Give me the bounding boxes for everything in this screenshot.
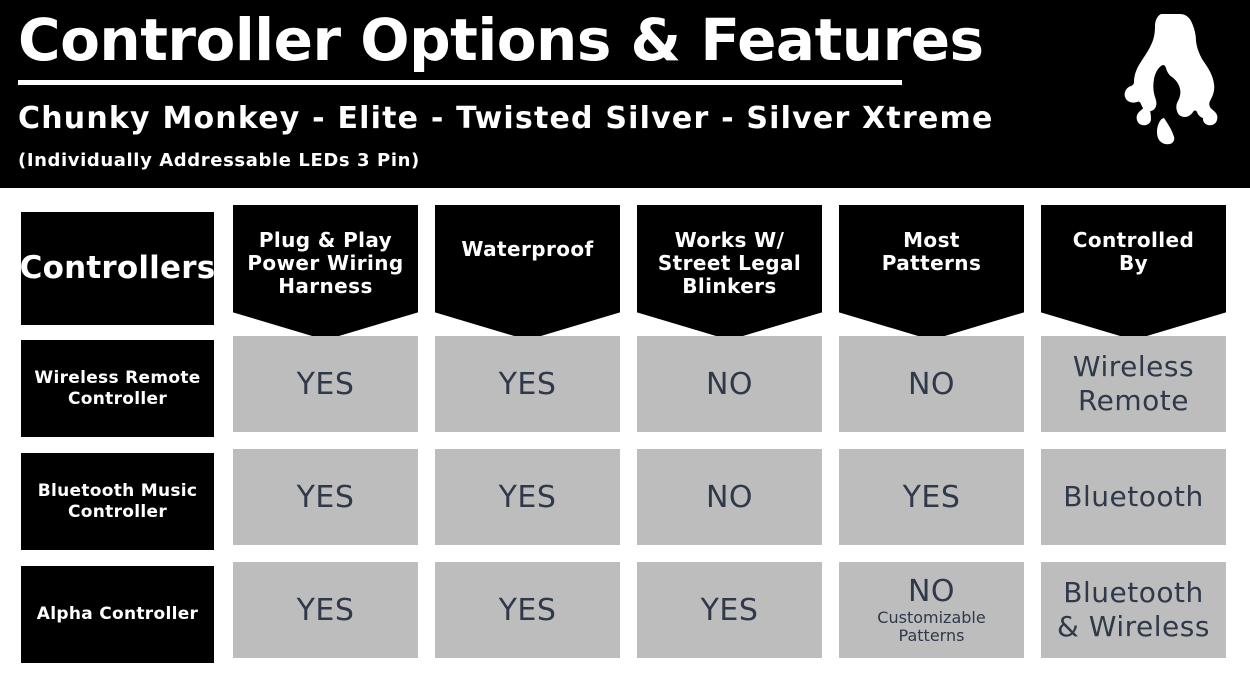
table-row: YES [233, 562, 418, 658]
row-label-bluetooth-music-controller: Bluetooth Music Controller [21, 453, 214, 550]
table-row: YES [839, 449, 1024, 545]
cell-value: YES [499, 481, 557, 514]
table-row: YES [233, 336, 418, 432]
column-header-label: Controlled By [1067, 219, 1200, 275]
table-row: NO [637, 336, 822, 432]
cell-value: NO [908, 575, 955, 608]
table-row: YES [233, 449, 418, 545]
table-row: YES [435, 449, 620, 545]
column-header-label: Most Patterns [876, 219, 988, 275]
table-row: YES [637, 562, 822, 658]
cell-value: YES [297, 594, 355, 627]
table-row: Wireless Remote [1041, 336, 1226, 432]
table-row: NO Customizable Patterns [839, 562, 1024, 658]
header-banner: Controller Options & Features Chunky Mon… [0, 0, 1250, 188]
table-row: NO [637, 449, 822, 545]
cell-value: YES [297, 481, 355, 514]
led-note: (Individually Addressable LEDs 3 Pin) [18, 147, 420, 175]
table-header-plug-and-play: Plug & Play Power Wiring Harness [233, 205, 418, 340]
cell-subtext: Customizable Patterns [877, 609, 985, 645]
page-title: Controller Options & Features [18, 5, 984, 75]
column-header-label: Plug & Play Power Wiring Harness [241, 219, 409, 297]
cell-value: YES [499, 594, 557, 627]
table-header-controllers: Controllers [21, 212, 214, 325]
cell-value: YES [297, 368, 355, 401]
column-header-label: Controllers [14, 251, 222, 286]
row-label-wireless-remote-controller: Wireless Remote Controller [21, 340, 214, 437]
cell-value: Bluetooth [1063, 480, 1203, 514]
table-header-street-legal-blinkers: Works W/ Street Legal Blinkers [637, 205, 822, 340]
features-table: Controllers Plug & Play Power Wiring Har… [0, 188, 1250, 700]
table-header-waterproof: Waterproof [435, 205, 620, 340]
title-divider [18, 80, 902, 85]
cell-value: NO [706, 481, 753, 514]
cell-value: YES [499, 368, 557, 401]
cell-value: YES [903, 481, 961, 514]
cell-value: Wireless Remote [1073, 350, 1194, 417]
table-row: YES [435, 336, 620, 432]
table-row: Bluetooth & Wireless [1041, 562, 1226, 658]
cell-value: NO [908, 368, 955, 401]
row-label-alpha-controller: Alpha Controller [21, 566, 214, 663]
column-header-label: Works W/ Street Legal Blinkers [652, 219, 807, 297]
table-row: YES [435, 562, 620, 658]
table-row: NO [839, 336, 1024, 432]
table-row: Bluetooth [1041, 449, 1226, 545]
gorilla-logo-icon [1112, 8, 1240, 148]
cell-value: Bluetooth & Wireless [1057, 576, 1210, 643]
cell-value: NO [706, 368, 753, 401]
cell-value: YES [701, 594, 759, 627]
product-line-subtitle: Chunky Monkey - Elite - Twisted Silver -… [18, 99, 994, 139]
table-header-most-patterns: Most Patterns [839, 205, 1024, 340]
table-header-controlled-by: Controlled By [1041, 205, 1226, 340]
column-header-label: Waterproof [455, 219, 599, 261]
